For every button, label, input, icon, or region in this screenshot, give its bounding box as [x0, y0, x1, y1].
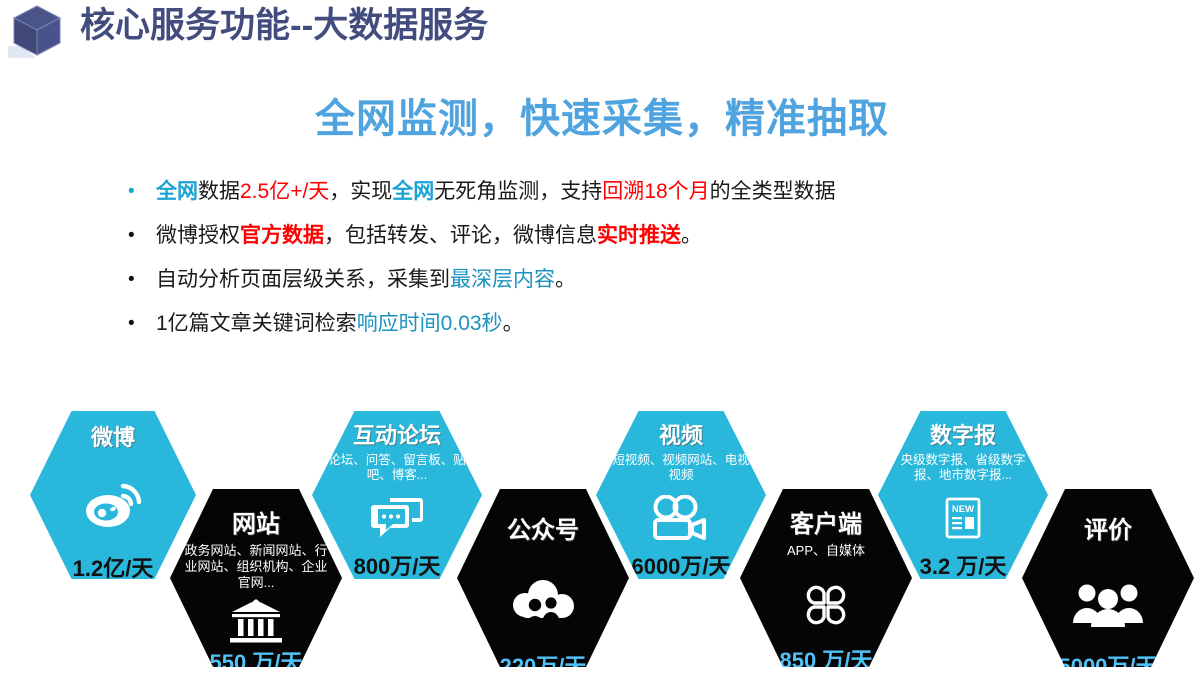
newspaper-new-icon: NEW	[945, 487, 981, 549]
bullet-text-segment: 实时推送	[597, 224, 681, 247]
bullet-item: •微博授权官方数据，包括转发、评论，微博信息实时推送。	[128, 221, 1128, 251]
bullet-text-segment: 响应时间0.03秒	[357, 312, 503, 335]
hexagon-subtitle: 短视频、视频网站、电视视频	[596, 453, 766, 483]
hexagon-official-account[interactable]: 公众号 220万/天	[457, 489, 629, 667]
bullet-text: 1亿篇文章关键词检索响应时间0.03秒。	[156, 309, 524, 339]
hexagon-value: 850 万/天	[780, 643, 873, 675]
bullet-text-segment: 无死角监测，支持	[434, 180, 602, 203]
hexagon-client-app[interactable]: 客户端APP、自媒体 850 万/天	[740, 489, 912, 667]
weibo-icon	[82, 459, 144, 551]
bullet-text: 全网数据2.5亿+/天，实现全网无死角监测，支持回溯18个月的全类型数据	[156, 177, 836, 207]
cloud-people-icon	[507, 559, 579, 649]
bank-building-icon	[230, 597, 282, 645]
hexagon-title: 公众号	[507, 517, 579, 545]
people-group-icon	[1071, 559, 1145, 649]
chat-bubbles-icon	[370, 487, 424, 549]
bullet-text-segment: 微博授权	[156, 224, 240, 247]
bullet-text-segment: 官方数据	[240, 224, 324, 247]
hexagon-weibo[interactable]: 微博 1.2亿/天	[30, 411, 196, 579]
bullet-text-segment: 自动分析页面层级关系，采集到	[156, 268, 450, 291]
hexagon-title: 评价	[1084, 517, 1132, 545]
hexagon-review[interactable]: 评价 5000万/天	[1022, 489, 1194, 667]
bullet-text-segment: 最深层内容	[450, 268, 555, 291]
bullet-text: 自动分析页面层级关系，采集到最深层内容。	[156, 265, 576, 295]
hexagon-digital-newspaper[interactable]: 数字报央级数字报、省级数字报、地市数字报... NEW 3.2 万/天	[878, 411, 1048, 579]
hexagon-title: 数字报	[930, 423, 996, 449]
bullet-text-segment: 回溯18个月	[602, 180, 709, 203]
bullet-text-segment: 2.5亿+/天	[240, 180, 329, 203]
slide-header: 核心服务功能--大数据服务	[0, 0, 1204, 62]
hexagon-title: 视频	[659, 423, 703, 449]
hexagon-title: 微博	[91, 425, 135, 451]
hexagon-value: 220万/天	[500, 649, 587, 681]
bullet-text-segment: 。	[681, 224, 702, 247]
video-camera-icon	[652, 487, 710, 549]
main-heading: 全网监测，快速采集，精准抽取	[0, 86, 1204, 144]
bullet-item: •自动分析页面层级关系，采集到最深层内容。	[128, 265, 1128, 295]
hexagon-subtitle: 政务网站、新闻网站、行业网站、组织机构、企业官网...	[170, 543, 342, 591]
hexagon-value: 3.2 万/天	[920, 549, 1007, 581]
bullet-item: •1亿篇文章关键词检索响应时间0.03秒。	[128, 309, 1128, 339]
hexagon-subtitle: 论坛、问答、留言板、贴吧、博客...	[312, 453, 482, 483]
bullet-text-segment: 的全类型数据	[710, 180, 836, 203]
hexagon-title: 客户端	[790, 511, 862, 539]
hexagon-forum[interactable]: 互动论坛论坛、问答、留言板、贴吧、博客... 800万/天	[312, 411, 482, 579]
bullet-marker-icon: •	[128, 177, 156, 207]
bullet-text: 微博授权官方数据，包括转发、评论，微博信息实时推送。	[156, 221, 702, 251]
hexagon-video[interactable]: 视频短视频、视频网站、电视视频 6000万/天	[596, 411, 766, 579]
hexagon-subtitle: APP、自媒体	[775, 543, 877, 559]
channel-hexagon-diagram: 微博 1.2亿/天网站政务网站、新闻网站、行业网站、组织机构、企业官网... 5…	[0, 400, 1204, 658]
four-petal-icon	[803, 567, 849, 643]
bullet-text-segment: 数据	[198, 180, 240, 203]
cube-icon	[6, 2, 68, 60]
bullet-marker-icon: •	[128, 221, 156, 251]
hexagon-value: 5000万/天	[1058, 649, 1157, 681]
hexagon-value: 6000万/天	[631, 549, 730, 581]
bullet-text-segment: ，实现	[329, 180, 392, 203]
hexagon-value: 1.2亿/天	[73, 551, 154, 583]
hexagon-value: 800万/天	[354, 549, 441, 581]
hexagon-subtitle: 央级数字报、省级数字报、地市数字报...	[878, 453, 1048, 483]
svg-text:NEW: NEW	[952, 504, 974, 515]
page-title: 核心服务功能--大数据服务	[80, 4, 488, 48]
hexagon-title: 互动论坛	[353, 423, 441, 449]
feature-bullet-list: •全网数据2.5亿+/天，实现全网无死角监测，支持回溯18个月的全类型数据•微博…	[128, 177, 1128, 353]
bullet-text-segment: 。	[555, 268, 576, 291]
bullet-item: •全网数据2.5亿+/天，实现全网无死角监测，支持回溯18个月的全类型数据	[128, 177, 1128, 207]
bullet-text-segment: 全网	[156, 180, 198, 203]
hexagon-title: 网站	[232, 511, 280, 539]
bullet-text-segment: 。	[503, 312, 524, 335]
bullet-text-segment: 全网	[392, 180, 434, 203]
bullet-marker-icon: •	[128, 265, 156, 295]
bullet-marker-icon: •	[128, 309, 156, 339]
hexagon-website[interactable]: 网站政务网站、新闻网站、行业网站、组织机构、企业官网... 550 万/天	[170, 489, 342, 667]
bullet-text-segment: 1亿篇文章关键词检索	[156, 312, 357, 335]
bullet-text-segment: ，包括转发、评论，微博信息	[324, 224, 597, 247]
hexagon-value: 550 万/天	[210, 645, 303, 677]
